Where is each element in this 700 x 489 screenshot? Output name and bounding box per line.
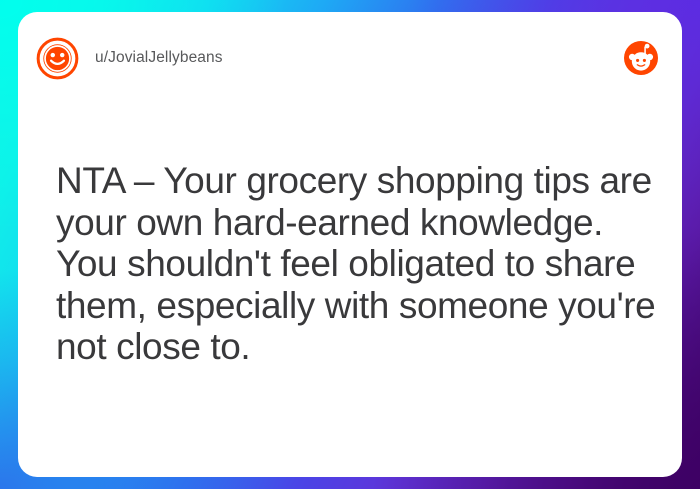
smiley-face-avatar-icon[interactable] — [36, 37, 79, 80]
post-header: u/JovialJellybeans — [18, 12, 682, 104]
post-body: NTA – Your grocery shopping tips are you… — [56, 160, 656, 368]
reddit-post-card-screenshot: u/JovialJellybeans NTA – Your grocery sh… — [0, 0, 700, 489]
username-label: u/JovialJellybeans — [95, 49, 223, 67]
post-card: u/JovialJellybeans NTA – Your grocery sh… — [18, 12, 682, 477]
post-text: NTA – Your grocery shopping tips are you… — [56, 160, 656, 368]
reddit-snoo-icon[interactable] — [624, 41, 658, 75]
